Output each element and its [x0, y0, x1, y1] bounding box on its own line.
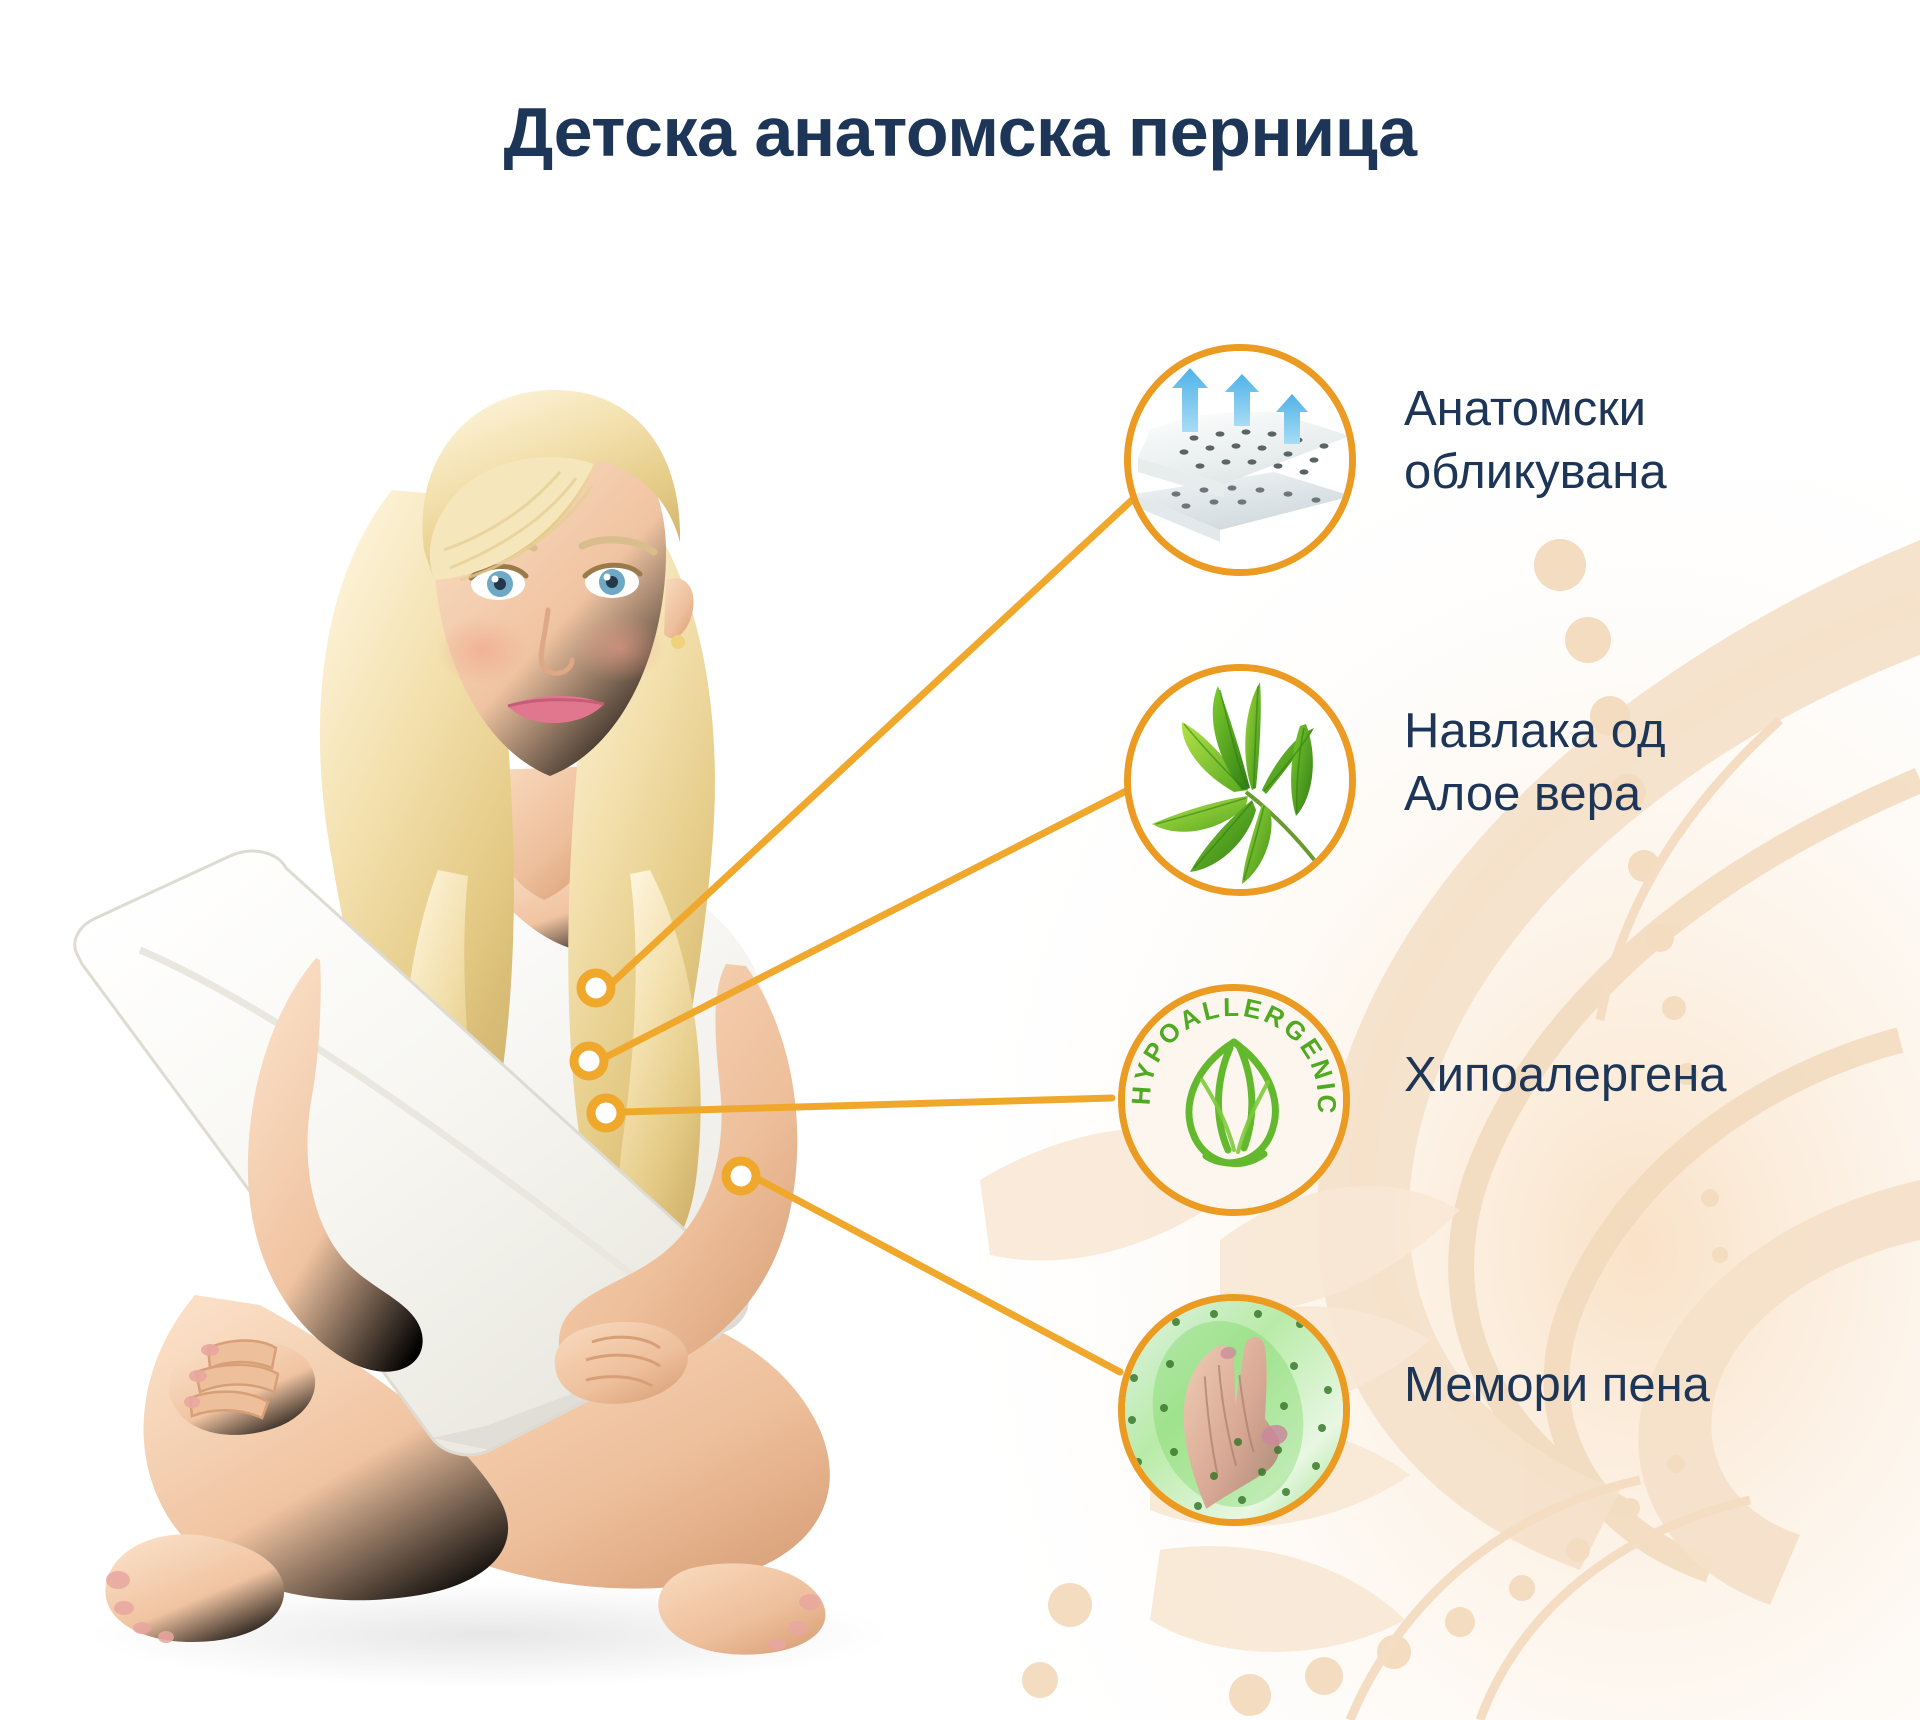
feature-label-aloe-cover: Навлака од Алое вера [1404, 700, 1666, 825]
infographic-canvas: Детска анатомска перница [0, 0, 1920, 1720]
feature-icon-hypoallergenic[interactable]: HYPOALLERGENIC [1118, 984, 1350, 1216]
feature-icon-anatomical[interactable] [1124, 344, 1356, 576]
feature-icon-aloe-cover[interactable] [1124, 664, 1356, 896]
page-title: Детска анатомска перница [0, 96, 1920, 170]
hypoallergenic-stamp-icon: HYPOALLERGENIC [1118, 984, 1350, 1216]
anatomic-foam-layers-icon [1124, 344, 1356, 576]
memory-foam-handprint-icon [1118, 1294, 1350, 1526]
product-photo-girl-with-pillow [20, 250, 1030, 1710]
feature-label-memory-foam: Мемори пена [1404, 1354, 1710, 1417]
feature-icon-memory-foam[interactable] [1118, 1294, 1350, 1526]
feature-label-hypoallergenic: Хипоалергена [1404, 1044, 1727, 1107]
bamboo-aloe-leaf-icon [1124, 664, 1356, 896]
feature-label-anatomical: Анатомски обликувана [1404, 378, 1667, 503]
